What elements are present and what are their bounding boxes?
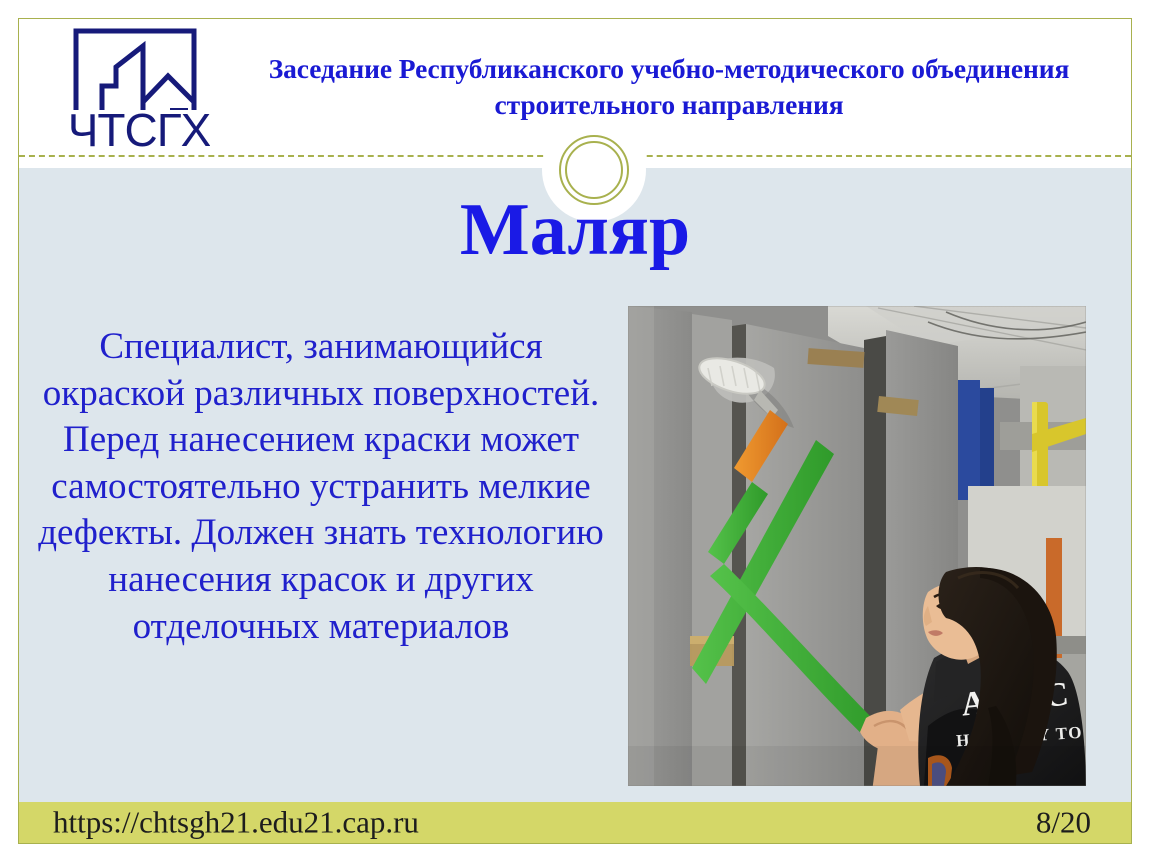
page-title: Маляр — [19, 193, 1131, 267]
chtsgh-college-logo: ЧТСГХ — [68, 24, 210, 154]
logo-letters: ЧТСГХ — [68, 104, 210, 154]
footer-url[interactable]: https://chtsgh21.edu21.cap.ru — [53, 804, 419, 840]
body-paragraph: Специалист, занимающийся окраской различ… — [34, 324, 608, 650]
header-title: Заседание Республиканского учебно-методи… — [229, 51, 1109, 123]
presentation-slide: ЧТСГХ Заседание Республиканского учебно-… — [0, 0, 1150, 864]
slide-photo: AC/DC HIGHWAY TO — [628, 306, 1086, 786]
slide-footer: https://chtsgh21.edu21.cap.ru 8/20 — [19, 802, 1131, 844]
slide-number: 8/20 — [1036, 804, 1091, 840]
